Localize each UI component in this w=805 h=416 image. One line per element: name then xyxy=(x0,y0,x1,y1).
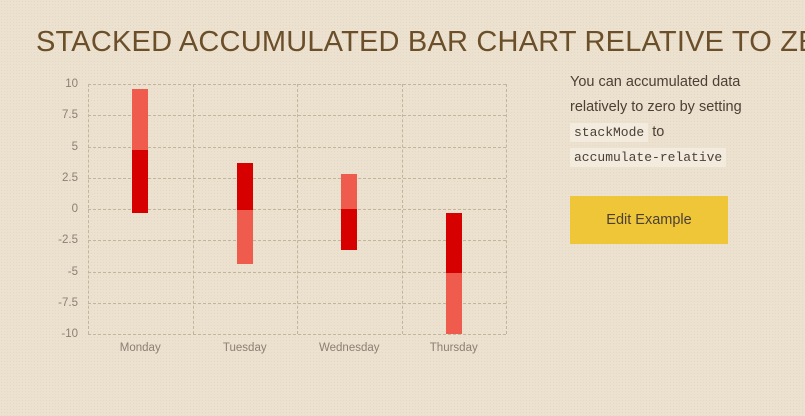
y-axis-tick-label: 10 xyxy=(65,78,78,90)
x-axis-tick-label: Tuesday xyxy=(223,342,267,354)
x-axis-tick-label: Wednesday xyxy=(319,342,380,354)
bar-segment[interactable] xyxy=(446,273,462,334)
y-axis-tick-label: 0 xyxy=(72,203,78,215)
x-axis-tick-label: Monday xyxy=(120,342,161,354)
y-axis-tick-label: -7.5 xyxy=(58,297,78,309)
y-axis-tick-label: 7.5 xyxy=(62,109,78,121)
code-accumulate-relative: accumulate-relative xyxy=(570,148,726,167)
bar-segment[interactable] xyxy=(132,150,148,213)
y-axis-tick-label: 5 xyxy=(72,141,78,153)
gridline-vertical xyxy=(402,84,403,334)
gridline-vertical xyxy=(297,84,298,334)
sidebar: You can accumulated data relatively to z… xyxy=(570,70,792,244)
bar-segment[interactable] xyxy=(446,213,462,273)
gridline-horizontal xyxy=(88,334,506,335)
gridline-vertical xyxy=(193,84,194,334)
x-axis-tick-label: Thursday xyxy=(430,342,478,354)
gridline-vertical xyxy=(88,84,89,334)
bar-chart: 107.552.50-2.5-5-7.5-10MondayTuesdayWedn… xyxy=(0,0,560,416)
bar-segment[interactable] xyxy=(341,209,357,250)
gridline-vertical xyxy=(506,84,507,334)
bar-segment[interactable] xyxy=(132,89,148,150)
y-axis-tick-label: -10 xyxy=(61,328,78,340)
bar-segment[interactable] xyxy=(237,163,253,211)
description-part-1: You can accumulated data relatively to z… xyxy=(570,74,742,115)
y-axis-tick-label: -2.5 xyxy=(58,234,78,246)
code-stackmode: stackMode xyxy=(570,123,648,142)
bar-segment[interactable] xyxy=(237,210,253,264)
edit-example-button[interactable]: Edit Example xyxy=(570,196,728,244)
y-axis-tick-label: 2.5 xyxy=(62,172,78,184)
y-axis-tick-label: -5 xyxy=(68,266,78,278)
description-part-2: to xyxy=(652,124,664,140)
chart-plot-area: 107.552.50-2.5-5-7.5-10MondayTuesdayWedn… xyxy=(88,84,506,334)
description-text: You can accumulated data relatively to z… xyxy=(570,70,792,170)
bar-segment[interactable] xyxy=(341,174,357,209)
